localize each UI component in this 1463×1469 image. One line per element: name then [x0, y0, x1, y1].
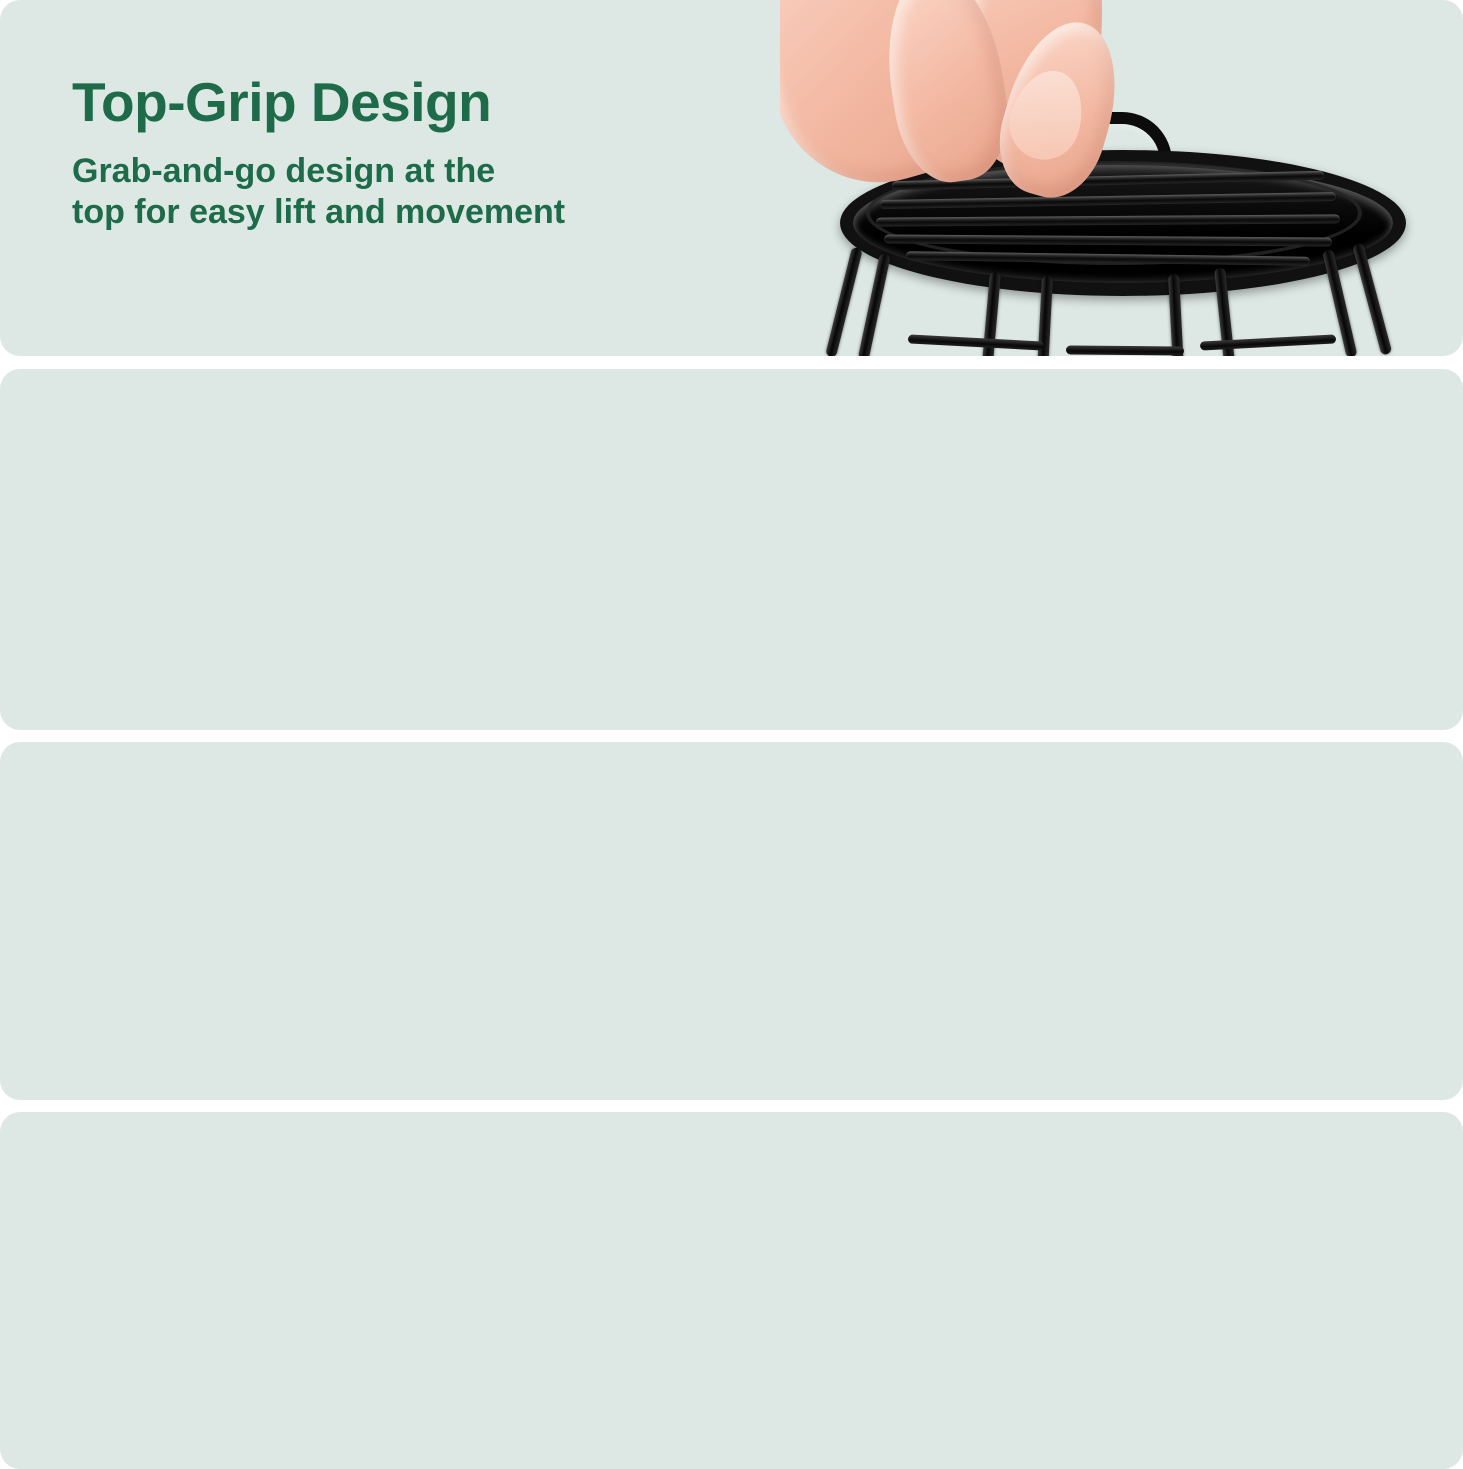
hand-grabbing-pod-holder-handle-image: [780, 0, 1463, 356]
frame-crossbar: [908, 334, 1044, 350]
feature-panel-thickened-wooden-base: Thickened Wooden Base Enjoy a stable spi…: [0, 1112, 1463, 1469]
frame-leg: [1352, 243, 1392, 356]
frame-leg: [825, 247, 863, 356]
subtitle-line: top for easy lift and movement: [72, 192, 565, 233]
panel-subtitle: Grab-and-go design at the top for easy l…: [72, 151, 565, 233]
subtitle-line: Grab-and-go design at the: [72, 151, 565, 192]
top-grip-design-text: Top-Grip Design Grab-and-go design at th…: [72, 74, 565, 233]
feature-board: Top-Grip Design Grab-and-go design at th…: [0, 0, 1463, 1469]
feature-panel-rotatable-base: Rotatable Base Freedom to rotate and cho…: [0, 369, 1463, 730]
panel-heading: Top-Grip Design: [72, 74, 565, 131]
frame-leg: [858, 253, 891, 356]
feature-panel-top-grip-design: Top-Grip Design Grab-and-go design at th…: [0, 0, 1463, 356]
feature-panel-anti-slip-pads: Anti-slip Pads Enhance stability and pro…: [0, 742, 1463, 1100]
frame-crossbar: [1066, 345, 1184, 355]
